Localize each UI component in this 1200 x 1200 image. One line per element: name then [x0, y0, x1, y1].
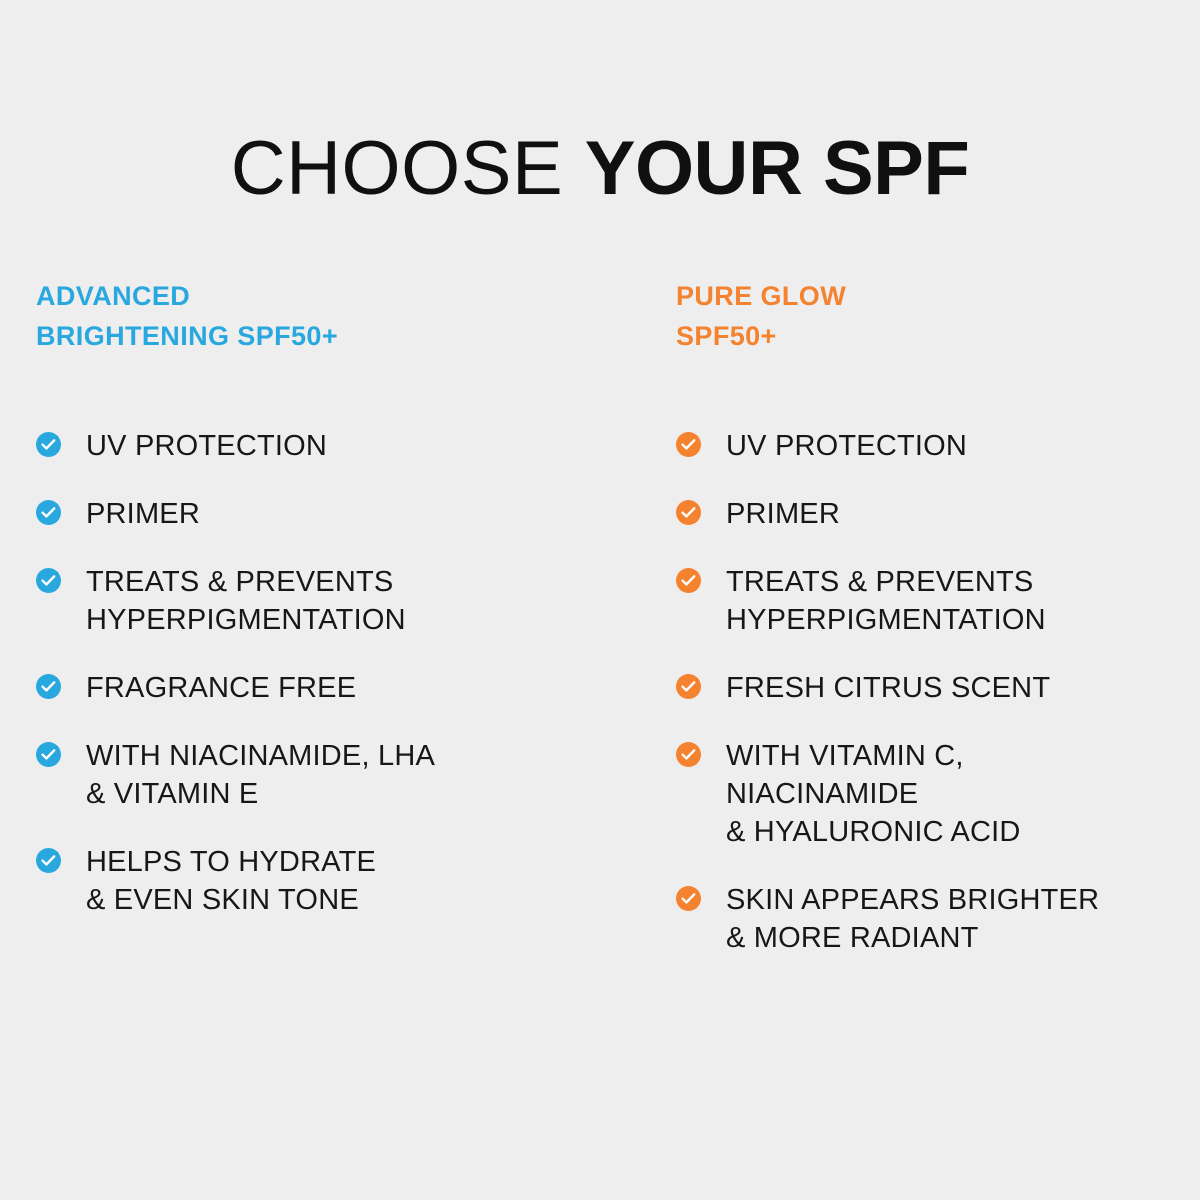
- list-item: WITH NIACINAMIDE, LHA & VITAMIN E: [36, 737, 640, 813]
- feature-label: FRAGRANCE FREE: [86, 669, 356, 707]
- feature-label: UV PROTECTION: [86, 427, 327, 465]
- feature-label: FRESH CITRUS SCENT: [726, 669, 1050, 707]
- list-item: SKIN APPEARS BRIGHTER & MORE RADIANT: [676, 881, 1200, 957]
- check-circle-icon: [36, 432, 61, 457]
- check-circle-icon: [676, 432, 701, 457]
- check-circle-icon: [676, 500, 701, 525]
- check-circle-icon: [676, 568, 701, 593]
- feature-list-advanced-brightening: UV PROTECTION PRIMER TREATS & PREVENTS H…: [36, 427, 640, 919]
- feature-list-pure-glow: UV PROTECTION PRIMER TREATS & PREVENTS H…: [676, 427, 1200, 957]
- column-heading-pure-glow: PURE GLOW SPF50+: [676, 276, 1200, 356]
- feature-label: WITH VITAMIN C, NIACINAMIDE & HYALURONIC…: [726, 737, 1021, 851]
- feature-label: PRIMER: [86, 495, 200, 533]
- page-title-light: CHOOSE: [231, 126, 585, 211]
- list-item: UV PROTECTION: [676, 427, 1200, 465]
- check-circle-icon: [36, 568, 61, 593]
- list-item: PRIMER: [676, 495, 1200, 533]
- list-item: FRESH CITRUS SCENT: [676, 669, 1200, 707]
- feature-label: TREATS & PREVENTS HYPERPIGMENTATION: [726, 563, 1046, 639]
- list-item: TREATS & PREVENTS HYPERPIGMENTATION: [676, 563, 1200, 639]
- check-circle-icon: [676, 674, 701, 699]
- list-item: HELPS TO HYDRATE & EVEN SKIN TONE: [36, 843, 640, 919]
- check-circle-icon: [676, 742, 701, 767]
- check-circle-icon: [36, 742, 61, 767]
- feature-label: WITH NIACINAMIDE, LHA & VITAMIN E: [86, 737, 435, 813]
- list-item: WITH VITAMIN C, NIACINAMIDE & HYALURONIC…: [676, 737, 1200, 851]
- column-heading-advanced-brightening: ADVANCED BRIGHTENING SPF50+: [36, 276, 640, 356]
- feature-label: HELPS TO HYDRATE & EVEN SKIN TONE: [86, 843, 376, 919]
- list-item: UV PROTECTION: [36, 427, 640, 465]
- feature-label: PRIMER: [726, 495, 840, 533]
- page-title: CHOOSE YOUR SPF: [0, 129, 1200, 209]
- column-advanced-brightening: ADVANCED BRIGHTENING SPF50+ UV PROTECTIO…: [0, 276, 640, 957]
- feature-label: TREATS & PREVENTS HYPERPIGMENTATION: [86, 563, 406, 639]
- spf-comparison-page: CHOOSE YOUR SPF ADVANCED BRIGHTENING SPF…: [0, 0, 1200, 1200]
- list-item: TREATS & PREVENTS HYPERPIGMENTATION: [36, 563, 640, 639]
- page-title-bold: YOUR SPF: [585, 126, 970, 211]
- check-circle-icon: [36, 500, 61, 525]
- column-pure-glow: PURE GLOW SPF50+ UV PROTECTION PRIMER: [640, 276, 1200, 957]
- list-item: PRIMER: [36, 495, 640, 533]
- product-columns: ADVANCED BRIGHTENING SPF50+ UV PROTECTIO…: [0, 276, 1200, 957]
- list-item: FRAGRANCE FREE: [36, 669, 640, 707]
- feature-label: UV PROTECTION: [726, 427, 967, 465]
- feature-label: SKIN APPEARS BRIGHTER & MORE RADIANT: [726, 881, 1099, 957]
- check-circle-icon: [676, 886, 701, 911]
- check-circle-icon: [36, 848, 61, 873]
- check-circle-icon: [36, 674, 61, 699]
